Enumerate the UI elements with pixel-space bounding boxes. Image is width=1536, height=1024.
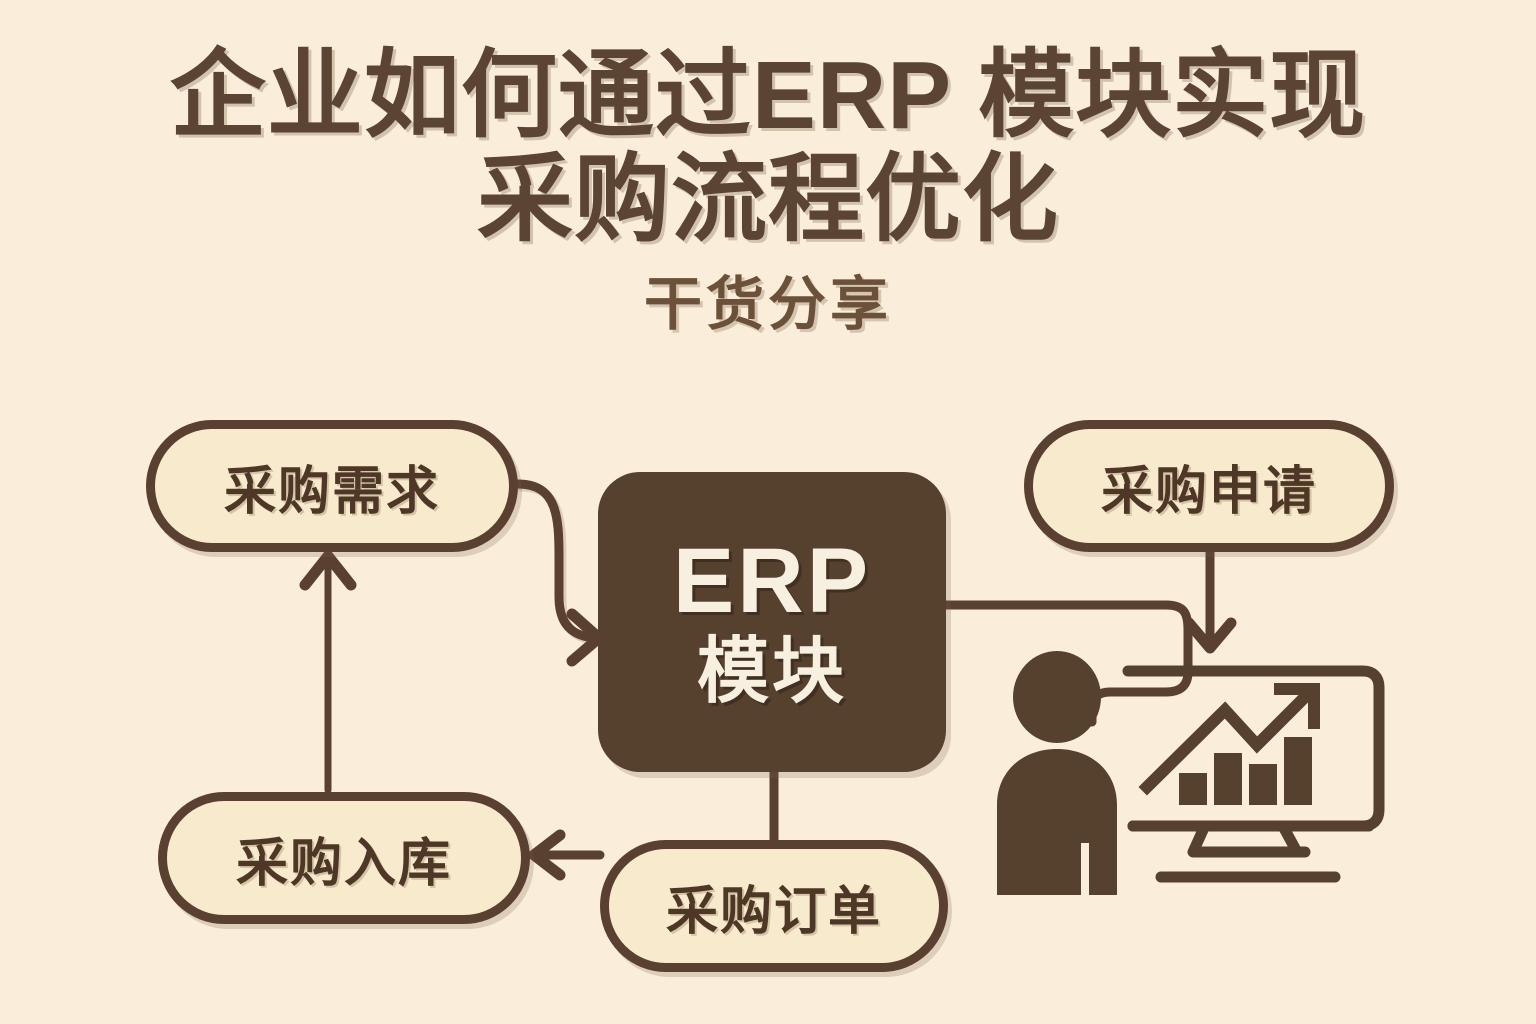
connector-request-to-analytics [1189, 552, 1231, 648]
person-with-chart-monitor-icon [985, 645, 1385, 915]
flow-node-request-label: 采购申请 [1101, 449, 1317, 524]
flow-node-inbound-label: 采购入库 [236, 821, 452, 896]
flow-node-demand-label: 采购需求 [224, 449, 440, 524]
flow-node-order[interactable]: 采购订单 [600, 840, 948, 972]
procurement-flowchart: .ln { fill: none; stroke: #5a4030; strok… [0, 0, 1536, 1024]
erp-module-label: 模块 [697, 633, 847, 711]
flow-node-demand[interactable]: 采购需求 [146, 420, 518, 552]
erp-acronym-label: ERP [673, 533, 871, 629]
poster-canvas: 企业如何通过ERP 模块实现 采购流程优化 干货分享 .ln { fill: n… [0, 0, 1536, 1024]
connector-inbound-to-demand [305, 556, 351, 790]
person-silhouette-icon [997, 651, 1117, 895]
flow-node-request[interactable]: 采购申请 [1024, 420, 1394, 552]
flow-node-inbound[interactable]: 采购入库 [158, 792, 530, 924]
connector-demand-to-erp [518, 484, 600, 661]
flow-node-order-label: 采购订单 [666, 869, 882, 944]
flow-node-erp-module[interactable]: ERP 模块 [598, 472, 946, 772]
bar-chart-icon [1179, 737, 1312, 805]
connector-order-to-inbound [534, 835, 600, 875]
